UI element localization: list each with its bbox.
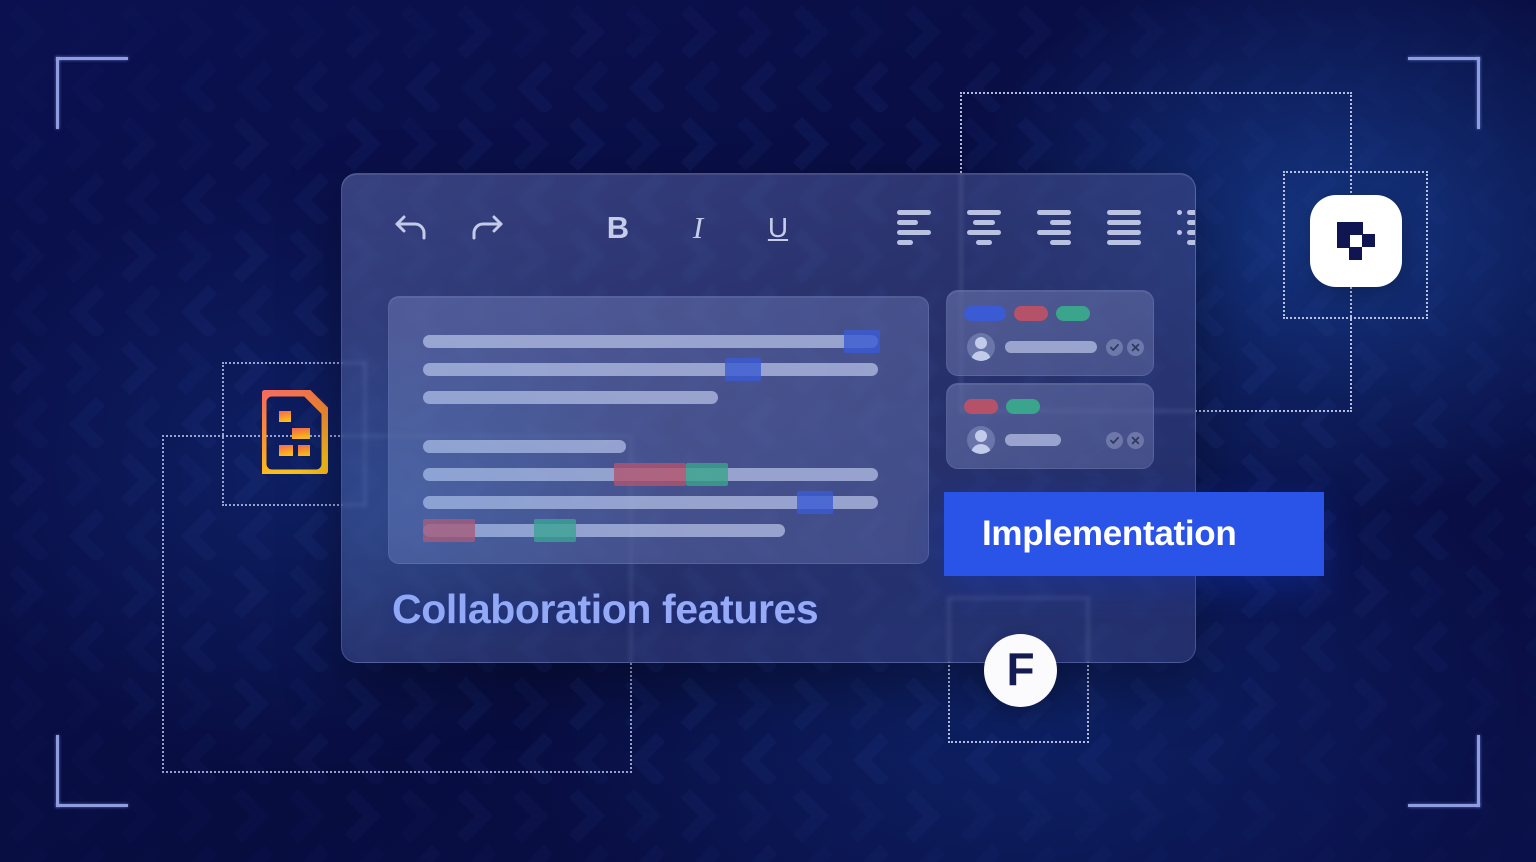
italic-icon[interactable]: I — [670, 200, 726, 256]
f-badge-label: F — [1006, 646, 1034, 692]
tag-pill — [1006, 399, 1040, 414]
avatar — [967, 426, 995, 454]
reject-comment-button[interactable] — [1127, 339, 1144, 356]
comment-text-bar — [1005, 434, 1061, 446]
bracket-bottom-right — [1408, 735, 1480, 807]
hero-illustration: B I U — [0, 0, 1536, 862]
bracket-top-right — [1408, 57, 1480, 129]
bracket-top-left — [56, 57, 128, 129]
suggest-highlight — [534, 519, 576, 542]
delete-highlight — [423, 519, 475, 542]
align-justify-icon[interactable] — [1096, 200, 1152, 256]
document-canvas[interactable] — [388, 296, 929, 564]
tag-pill — [1014, 306, 1048, 321]
editor-toolbar: B I U — [342, 174, 1195, 281]
doc-line — [423, 391, 718, 404]
bracket-bottom-left — [56, 735, 128, 807]
redo-icon[interactable] — [458, 200, 514, 256]
underline-label: U — [768, 214, 788, 242]
delete-highlight — [614, 463, 686, 486]
comment-card-1[interactable] — [946, 290, 1154, 376]
bold-icon[interactable]: B — [590, 200, 646, 256]
undo-icon[interactable] — [384, 200, 440, 256]
accept-comment-button[interactable] — [1106, 339, 1123, 356]
page-title: Collaboration features — [392, 586, 818, 633]
align-right-icon[interactable] — [1026, 200, 1082, 256]
f-badge: F — [984, 634, 1057, 707]
underline-icon[interactable]: U — [750, 200, 806, 256]
comment-card-2[interactable] — [946, 383, 1154, 469]
italic-label: I — [693, 212, 703, 243]
tag-pill — [964, 306, 1006, 321]
insert-highlight — [797, 491, 833, 514]
file-document-icon — [262, 390, 328, 474]
doc-line — [423, 335, 878, 348]
reject-comment-button[interactable] — [1127, 432, 1144, 449]
suggest-highlight — [686, 463, 728, 486]
brand-logo-icon — [1328, 213, 1384, 269]
doc-line — [423, 363, 878, 376]
doc-line — [423, 524, 785, 537]
implementation-label: Implementation — [982, 514, 1236, 554]
tag-pill — [1056, 306, 1090, 321]
doc-line — [423, 440, 626, 453]
tag-pill — [964, 399, 998, 414]
align-center-icon[interactable] — [956, 200, 1012, 256]
insert-highlight — [725, 358, 761, 381]
align-left-icon[interactable] — [886, 200, 942, 256]
editor-panel: B I U — [341, 173, 1196, 663]
accept-comment-button[interactable] — [1106, 432, 1123, 449]
bold-label: B — [607, 212, 629, 243]
avatar — [967, 333, 995, 361]
brand-logo-badge — [1310, 195, 1402, 287]
insert-highlight — [844, 330, 880, 353]
implementation-badge: Implementation — [944, 492, 1324, 576]
bulleted-list-icon[interactable] — [1166, 200, 1196, 256]
comment-text-bar — [1005, 341, 1097, 353]
